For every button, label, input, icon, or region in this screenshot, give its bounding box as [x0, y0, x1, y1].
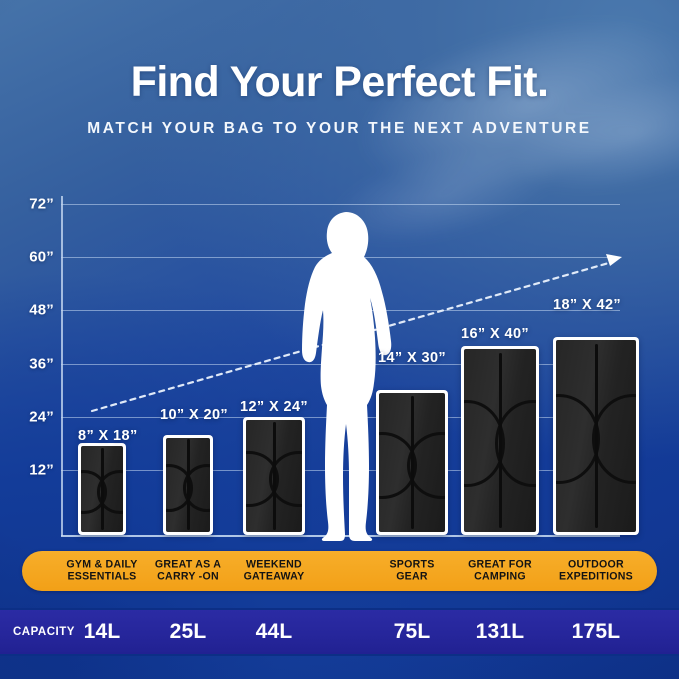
y-axis-tick-label: 48” — [0, 302, 54, 319]
bag-bar[interactable] — [78, 443, 126, 535]
y-axis-tick-label: 12” — [0, 462, 54, 479]
bag-arc-right — [592, 394, 636, 484]
bag-dimension-label: 8” X 18” — [78, 428, 138, 444]
y-axis-tick-label: 36” — [0, 355, 54, 372]
capacity-label: CAPACITY — [13, 626, 75, 638]
bag-body — [246, 420, 302, 532]
bag-center-seam — [499, 353, 502, 529]
bag-body — [166, 438, 210, 532]
y-axis-tick-label: 24” — [0, 408, 54, 425]
bag-body — [81, 446, 123, 532]
bag-body — [556, 340, 636, 532]
bag-dimension-label: 14” X 30” — [378, 350, 446, 366]
page-subtitle: MATCH YOUR BAG TO YOUR THE NEXT ADVENTUR… — [0, 120, 679, 138]
header: Find Your Perfect Fit. MATCH YOUR BAG TO… — [0, 0, 679, 138]
use-case-label: GREAT AS A CARRY -ON — [155, 559, 221, 584]
use-case-label: OUTDOOR EXPEDITIONS — [559, 559, 633, 584]
bag-center-seam — [101, 448, 104, 530]
y-axis-tick-label: 72” — [0, 196, 54, 213]
bag-dimension-label: 12” X 24” — [240, 399, 308, 415]
bag-center-seam — [595, 344, 598, 528]
bag-dimension-label: 18” X 42” — [553, 297, 621, 313]
bag-dimension-label: 16” X 40” — [461, 326, 529, 342]
use-case-label: GREAT FOR CAMPING — [468, 559, 532, 584]
bag-body — [464, 349, 536, 532]
page-title: Find Your Perfect Fit. — [0, 59, 679, 105]
y-axis-tick-label: 60” — [0, 249, 54, 266]
capacity-value: 75L — [394, 620, 431, 644]
bag-bar[interactable] — [243, 417, 305, 535]
bag-center-seam — [273, 422, 276, 530]
bag-bar[interactable] — [461, 346, 539, 535]
use-case-label: WEEKEND GATEAWAY — [244, 559, 305, 584]
capacity-value: 14L — [84, 620, 121, 644]
y-axis-line — [61, 196, 63, 536]
capacity-value: 44L — [256, 620, 293, 644]
bag-center-seam — [187, 439, 190, 530]
use-case-pill: GYM & DAILY ESSENTIALSGREAT AS A CARRY -… — [22, 551, 657, 591]
gridline — [61, 204, 620, 205]
bag-center-seam — [411, 396, 414, 529]
bag-bar[interactable] — [553, 337, 639, 535]
capacity-band: CAPACITY 14L25L44L75L131L175L — [0, 608, 679, 656]
use-case-list: GYM & DAILY ESSENTIALSGREAT AS A CARRY -… — [22, 551, 657, 591]
capacity-value: 131L — [476, 620, 525, 644]
capacity-value: 175L — [572, 620, 621, 644]
bag-bar[interactable] — [163, 435, 213, 535]
use-case-label: GYM & DAILY ESSENTIALS — [66, 559, 137, 584]
bag-body — [379, 393, 445, 532]
infographic-canvas: Find Your Perfect Fit. MATCH YOUR BAG TO… — [0, 0, 679, 679]
bag-bar[interactable] — [376, 390, 448, 535]
capacity-value: 25L — [170, 620, 207, 644]
use-case-label: SPORTS GEAR — [389, 559, 434, 584]
bag-dimension-label: 10” X 20” — [160, 407, 228, 423]
bag-arc-right — [495, 400, 536, 487]
